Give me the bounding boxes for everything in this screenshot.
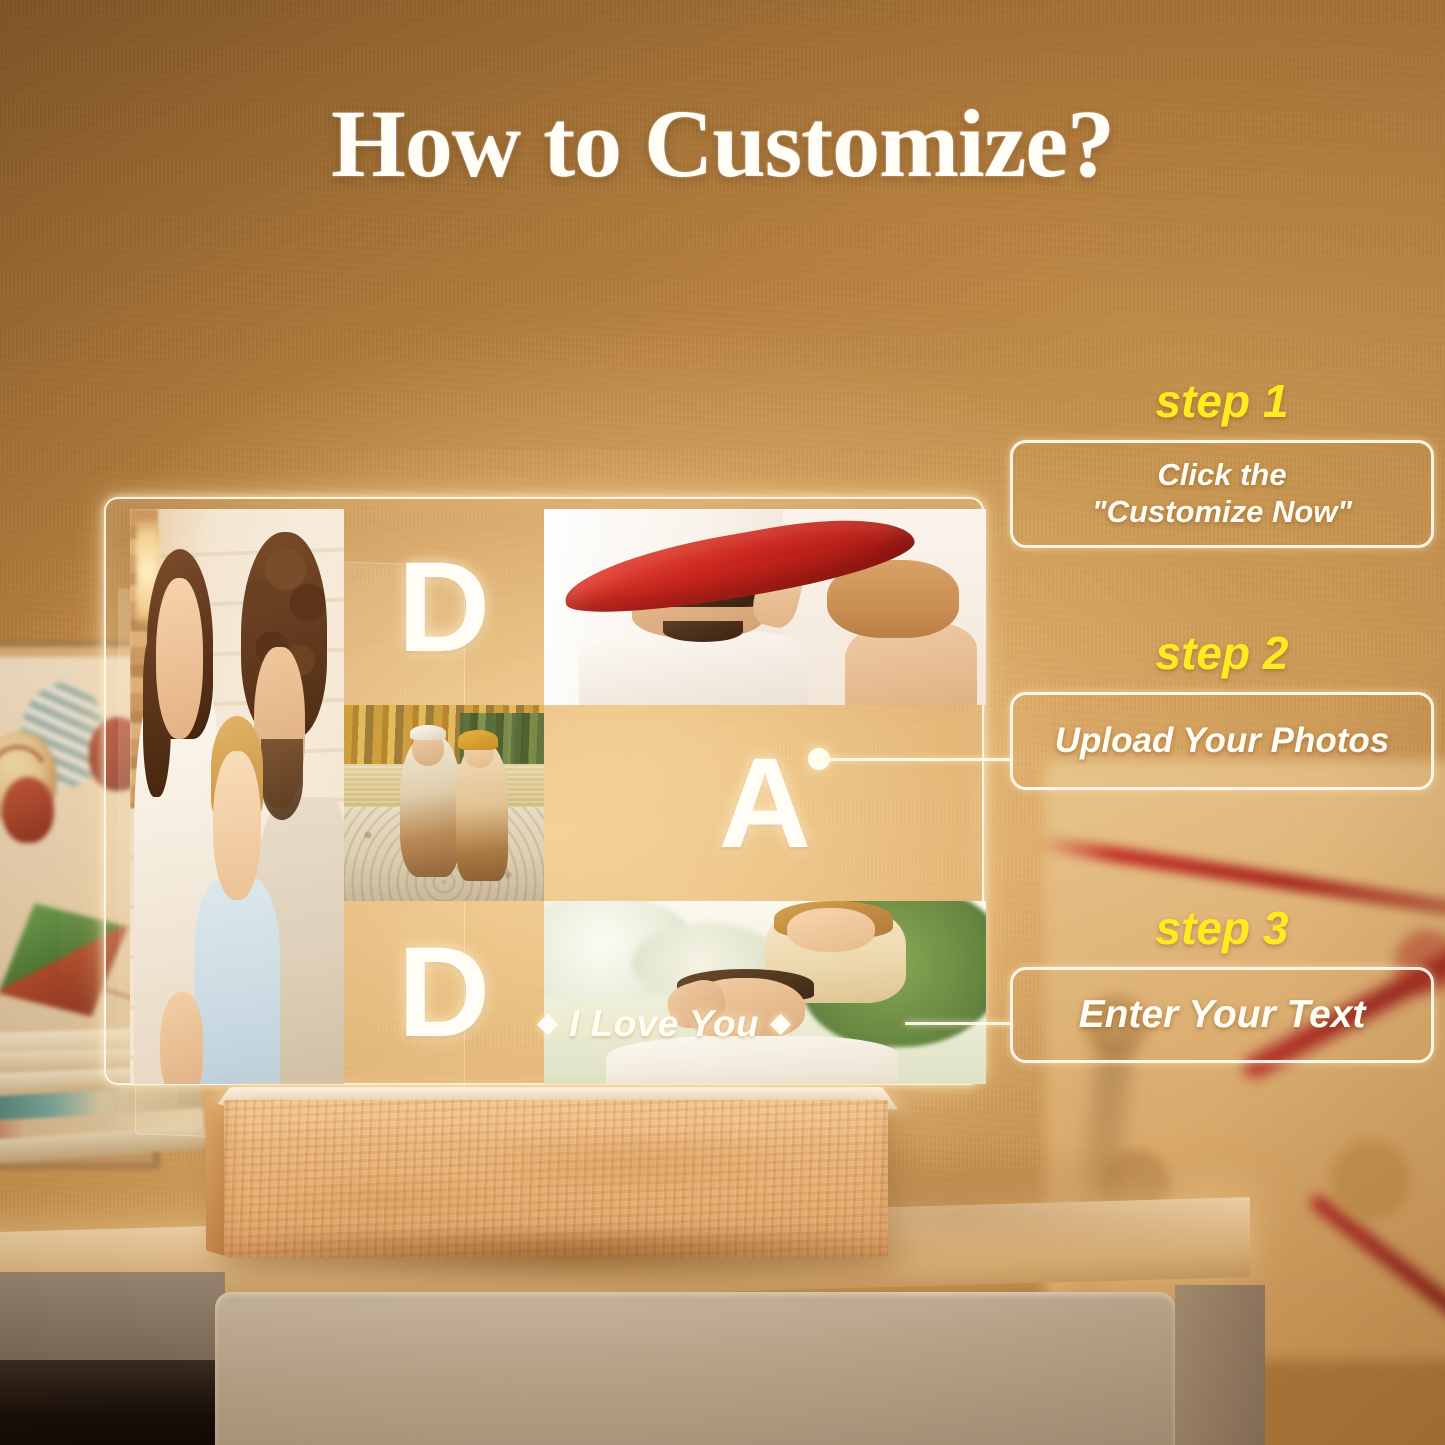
step-2-callout: step 2 Upload Your Photos — [1010, 630, 1434, 790]
photo-baby-body — [194, 877, 280, 1084]
step-3-callout: step 3 Enter Your Text — [1010, 905, 1434, 1063]
step-3-text: Enter Your Text — [1079, 992, 1366, 1038]
photo-girl-face — [787, 908, 875, 952]
photo-family — [130, 509, 344, 1084]
photo-collage-grid: D — [130, 509, 986, 1084]
acrylic-panel: D — [104, 497, 984, 1085]
step-2-text: Upload Your Photos — [1055, 720, 1389, 761]
engraved-letter-d1: D — [344, 509, 544, 705]
step-2-label: step 2 — [1010, 630, 1434, 676]
photo-lake — [344, 705, 544, 901]
photo-pillow — [544, 509, 986, 705]
diamond-ornament-icon — [537, 1013, 558, 1034]
diamond-ornament-icon — [770, 1013, 791, 1034]
engraved-letter-a: A — [544, 705, 986, 901]
photo-toddler-hood — [458, 730, 498, 750]
photo-dad-body — [579, 632, 809, 705]
photo-dad-hat — [410, 725, 446, 741]
step-1-box[interactable]: Click the "Customize Now" — [1010, 440, 1434, 548]
photo-mother-face — [156, 578, 203, 739]
engraved-letter-d2: D — [344, 901, 544, 1084]
step-3-label: step 3 — [1010, 905, 1434, 951]
custom-text: I Love You — [569, 1003, 759, 1045]
connector-line-step2 — [818, 758, 1013, 761]
photo-mother-hand — [160, 992, 203, 1084]
step-2-box[interactable]: Upload Your Photos — [1010, 692, 1434, 790]
connector-line-step3 — [905, 1022, 1013, 1025]
page-title: How to Customize? — [0, 88, 1445, 199]
step-1-label: step 1 — [1010, 378, 1434, 424]
photo-father-beard — [261, 739, 304, 820]
step-1-callout: step 1 Click the "Customize Now" — [1010, 378, 1434, 548]
step-1-text: Click the "Customize Now" — [1092, 457, 1352, 530]
photo-baby-face — [213, 751, 260, 901]
base-shadow — [200, 1232, 940, 1288]
photo-park — [544, 901, 986, 1084]
step-3-box[interactable]: Enter Your Text — [1010, 967, 1434, 1063]
